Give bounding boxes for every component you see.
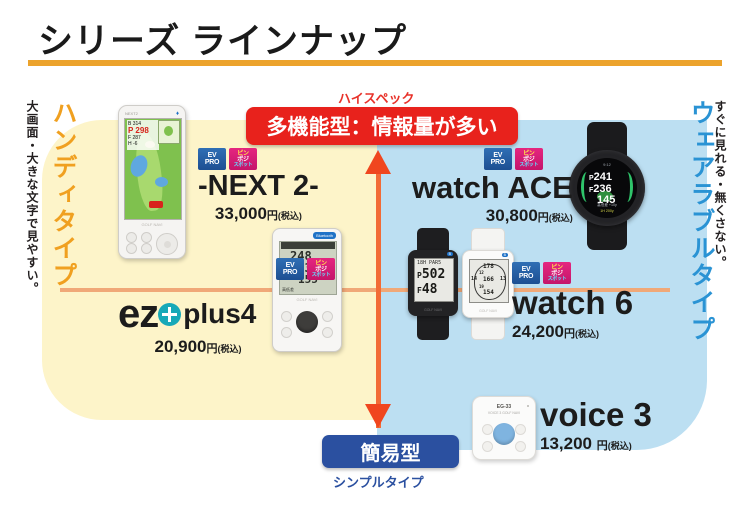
infographic-canvas: シリーズ ラインナップ ハイスペック 多機能型：情報量が多い 簡易型 シンプルタ… [0,0,750,531]
ev-pro-badge-icon: EV PRO [484,148,512,170]
spec-axis-arrow-shaft [376,168,381,428]
handy-type-title: ハンディタイプ [45,100,81,289]
product-name-watch6: watch 6 [512,286,633,319]
ace-hole-text: 1H 200y [587,209,627,213]
ev-pro-badge-icon: EV PRO [512,262,540,284]
next2-price-value: 33,000 [215,204,267,223]
product-price-watch-ace: 30,800円(税込) [412,206,573,226]
product-price-ez-plus4: 20,900円(税込) [118,337,278,357]
simple-type-banner: 簡易型 [322,435,459,468]
w6w-distance-right: 13 [500,276,506,282]
w6-price-value: 24,200 [512,322,564,341]
ev-pro-badge-line2: PRO [519,273,533,280]
voice3-main-button[interactable] [493,423,515,445]
product-name-ez-plus4: ez plus4 [118,294,343,334]
w6w-distance-small-2: 19 [479,284,484,289]
bluetooth-icon: B [447,252,453,256]
spec-axis-arrow-down-icon [365,404,391,428]
w6-price-currency: 円 [564,328,575,340]
next2-dpad[interactable] [156,233,178,255]
green-shape [164,126,173,136]
next2-price-currency: 円 [267,210,278,222]
next2-distance-readout: B 314 P 298 F 287 H -6 [127,120,159,150]
voice3-price-tax: (税込) [608,441,632,451]
w6-price-tax: (税込) [575,329,599,339]
product-price-next2: 33,000円(税込) [198,204,319,224]
next2-button-4[interactable] [141,243,152,254]
product-label-ez-plus4: EV PRO ピン ポジ スポット ez plus4 20,900円(税込) [118,258,343,357]
ez-price-value: 20,900 [155,337,207,356]
w6w-brand-mark: GOLF NAVI [463,309,513,313]
product-price-watch6: 24,200円(税込) [512,322,633,342]
next2-price-tax: (税込) [278,211,302,221]
pin-spot-badge-line3: スポット [548,277,567,282]
pin-flag-marker [149,201,163,208]
high-spec-label: ハイスペック [338,88,414,107]
next2-row-3: H -6 [128,141,158,147]
page-title: シリーズ ラインナップ [38,13,407,64]
w6w-distance-left: 14 [471,276,477,282]
next2-screen: B 314 P 298 F 287 H -6 [124,118,182,220]
product-image-next2[interactable]: NEXT2 ♦ B 314 P 298 F 287 H -6 GOLF NAVI [118,105,186,259]
product-label-next2: EV PRO ピン ポジ スポット -NEXT 2- 33,000円(税込) [198,148,319,224]
ace-badges: EV PRO ピン ポジ スポット [412,148,573,170]
spec-axis-arrow-up-icon [365,150,391,174]
product-image-voice3[interactable]: EG-33 VOICE 3 GOLF NAVI [472,396,536,460]
green-view-inset [158,120,180,144]
w6w-case: B 178 14 166 13 154 12 19 GOLF NAVI [462,250,514,318]
ace-elevation-text: 高低差 +10y [587,203,627,208]
ace-pin-value: 241 [594,171,612,183]
ace-time: 9:12 [577,162,637,167]
w6w-distance-bottom: 154 [483,289,494,296]
pin-spot-badge-line3: スポット [519,163,538,168]
voice3-button-right[interactable] [515,424,526,435]
voice3-button-bottom-right[interactable] [515,441,526,452]
w6b-screen: 18H PAR5 P502 F48 [414,258,454,302]
ez-name-part1: ez [118,294,158,334]
bluetooth-icon: ♦ [176,111,179,117]
w6b-brand-mark: GOLF NAVI [408,308,458,312]
ez-plus-logo-icon [158,303,181,326]
w6-badges: EV PRO ピン ポジ スポット [512,262,633,284]
next2-status-bar: NEXT2 ♦ [125,110,179,117]
w6w-distance-top: 178 [483,263,494,270]
ace-price-tax: (税込) [549,213,573,223]
voice3-model-label: EG-33 [473,404,535,410]
ez-badges: EV PRO ピン ポジ スポット [118,258,343,280]
ev-pro-badge-line1: EV [522,266,531,273]
w6w-distance-mid: 166 [483,276,494,283]
voice3-button-bottom-left[interactable] [482,441,493,452]
handy-type-subtitle: 大画面・大きな文字で見やすい。 [24,100,41,295]
product-price-voice3: 13,200 円(税込) [540,434,652,454]
ez-screen-titlebar [281,242,335,249]
pin-spot-badge-line3: スポット [234,163,253,168]
w6b-case: B 18H PAR5 P502 F48 GOLF NAVI [408,250,458,316]
w6b-hole-info: 18H PAR5 [417,260,441,266]
ev-pro-badge-line2: PRO [491,159,505,166]
product-name-voice3: voice 3 [540,398,652,431]
pin-spot-badge-icon: ピン ポジ スポット [229,148,257,170]
next2-badges: EV PRO ピン ポジ スポット [198,148,319,170]
w6b-pin-value: 502 [422,267,445,282]
pin-spot-badge-icon: ピン ポジ スポット [515,148,543,170]
ez-bluetooth-tag: Bluetooth [313,232,336,239]
voice3-sub-label: VOICE 3 GOLF NAVI [473,411,535,415]
bluetooth-icon: B [502,253,508,257]
w6b-front-distance: F48 [417,282,437,297]
product-name-watch-ace: watch ACE [412,172,573,203]
water-hazard-shape-2 [155,177,168,187]
ez-price-tax: (税込) [218,344,242,354]
next2-button-2[interactable] [126,243,137,254]
ace-arc-right [621,172,633,202]
product-image-watch6-black[interactable]: B 18H PAR5 P502 F48 GOLF NAVI [408,228,458,340]
ev-pro-badge-line1: EV [286,262,295,269]
ev-pro-badge-icon: EV PRO [276,258,304,280]
ace-price-currency: 円 [538,212,549,224]
w6w-screen: 178 14 166 13 154 12 19 [469,259,509,303]
product-label-watch-ace: EV PRO ピン ポジ スポット watch ACE 30,800円(税込) [412,148,573,226]
w6w-distance-small-1: 12 [479,270,484,275]
simple-type-banner-text: 簡易型 [361,437,421,466]
pin-spot-badge-icon: ピン ポジ スポット [307,258,335,280]
ev-pro-badge-line2: PRO [283,269,297,276]
ace-case: 9:12 P241 F236 145 高低差 +10y 1H 200y [569,150,645,226]
next2-screen-header: NEXT2 [125,111,138,116]
next2-row-1: P 298 [128,127,158,135]
w6b-front-value: 48 [422,282,438,297]
ace-price-value: 30,800 [486,206,538,225]
ev-pro-badge-line1: EV [208,152,217,159]
ev-pro-badge-icon: EV PRO [198,148,226,170]
simple-type-label: シンプルタイプ [333,472,424,491]
product-image-watch-ace[interactable]: 9:12 P241 F236 145 高低差 +10y 1H 200y [565,122,649,250]
voice3-price-currency: 円 [597,440,608,452]
pin-spot-badge-line3: スポット [312,273,331,278]
ace-screen: 9:12 P241 F236 145 高低差 +10y 1H 200y [577,158,637,218]
next2-button-cluster[interactable] [124,230,180,254]
product-label-voice3: voice 3 13,200 円(税込) [540,398,652,454]
next2-brand-mark: GOLF NAVI [119,222,185,227]
wearable-type-subtitle: すぐに見れる・無くさない。 [712,100,729,269]
product-label-watch6: EV PRO ピン ポジ スポット watch 6 24,200円(税込) [512,262,633,342]
next2-button-3[interactable] [141,232,152,243]
voice3-button-left[interactable] [482,424,493,435]
w6b-pin-distance: P502 [417,267,445,282]
next2-button-1[interactable] [126,232,137,243]
title-underline [28,60,722,66]
ev-pro-badge-line1: EV [493,152,502,159]
high-spec-banner: 多機能型：情報量が多い [246,107,518,145]
ez-price-currency: 円 [207,343,218,355]
voice3-price-value: 13,200 [540,434,592,453]
ace-pin-distance: P241 [589,171,612,183]
ez-name-part2: plus4 [183,300,256,328]
product-image-watch6-white[interactable]: B 178 14 166 13 154 12 19 GOLF NAVI [462,228,512,340]
ev-pro-badge-line2: PRO [205,159,219,166]
high-spec-banner-text: 多機能型：情報量が多い [267,111,498,141]
product-name-next2: -NEXT 2- [198,172,319,201]
pin-spot-badge-icon: ピン ポジ スポット [543,262,571,284]
